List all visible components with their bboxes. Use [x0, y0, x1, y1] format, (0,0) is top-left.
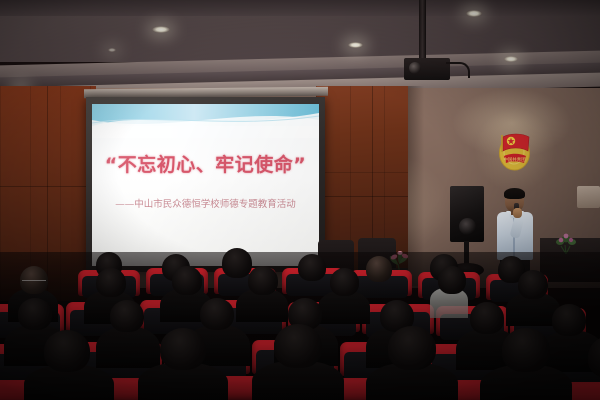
slide-subtitle: ——中山市民众德恒学校师德专题教育活动 [92, 196, 319, 210]
audience-head [172, 266, 202, 295]
audience-head [274, 324, 322, 368]
communist-youth-league-emblem-icon: 中国共青团 [494, 126, 535, 173]
ceiling-light-1 [152, 26, 170, 33]
ceiling-light-2 [348, 42, 363, 48]
wood-panel-seam-center-2 [316, 196, 408, 197]
ceiling-light-4 [504, 56, 518, 62]
audience-head [298, 254, 326, 281]
projection-screen: “不忘初心、牢记使命” ——中山市民众德恒学校师德专题教育活动 [92, 104, 319, 266]
wood-panel-seam-left-2 [0, 186, 96, 187]
speaker-hand [513, 208, 522, 218]
audience-head [18, 298, 52, 330]
audience-head [200, 298, 234, 330]
audience-head [44, 330, 90, 372]
projector-cable [446, 62, 470, 78]
svg-text:中国共青团: 中国共青团 [504, 156, 527, 163]
ceiling-shadow-band [0, 0, 600, 16]
ceiling-light-3 [466, 10, 482, 17]
audience-head [552, 304, 586, 336]
audience-head [366, 256, 392, 282]
projector-mount-pole [419, 0, 426, 62]
slide-wave-banner [92, 104, 319, 138]
slide-title: “不忘初心、牢记使命” [92, 150, 319, 177]
audience-head [96, 268, 126, 297]
audience-area [0, 252, 600, 400]
audience-head [518, 270, 548, 299]
ceiling-light-6 [108, 48, 116, 52]
wood-panel-seam-center-3 [316, 172, 408, 173]
wall-air-conditioner [577, 186, 600, 208]
audience-shoulders [96, 326, 160, 368]
audience-head [438, 266, 466, 294]
pa-speaker-cone [459, 218, 476, 235]
flower-arrangement [551, 232, 581, 254]
audience-head [502, 328, 550, 372]
eyeglasses-icon [22, 280, 46, 284]
audience-head [470, 302, 504, 334]
auditorium-photo: “不忘初心、牢记使命” ——中山市民众德恒学校师德专题教育活动 中国共青团 [0, 0, 600, 400]
audience-head [222, 248, 252, 278]
audience-head [248, 266, 278, 295]
audience-head [388, 326, 436, 370]
speaker-hair [504, 188, 525, 199]
audience-head [330, 268, 359, 296]
projector-lens [409, 62, 421, 74]
audience-head [110, 300, 144, 332]
audience-head [160, 328, 206, 370]
